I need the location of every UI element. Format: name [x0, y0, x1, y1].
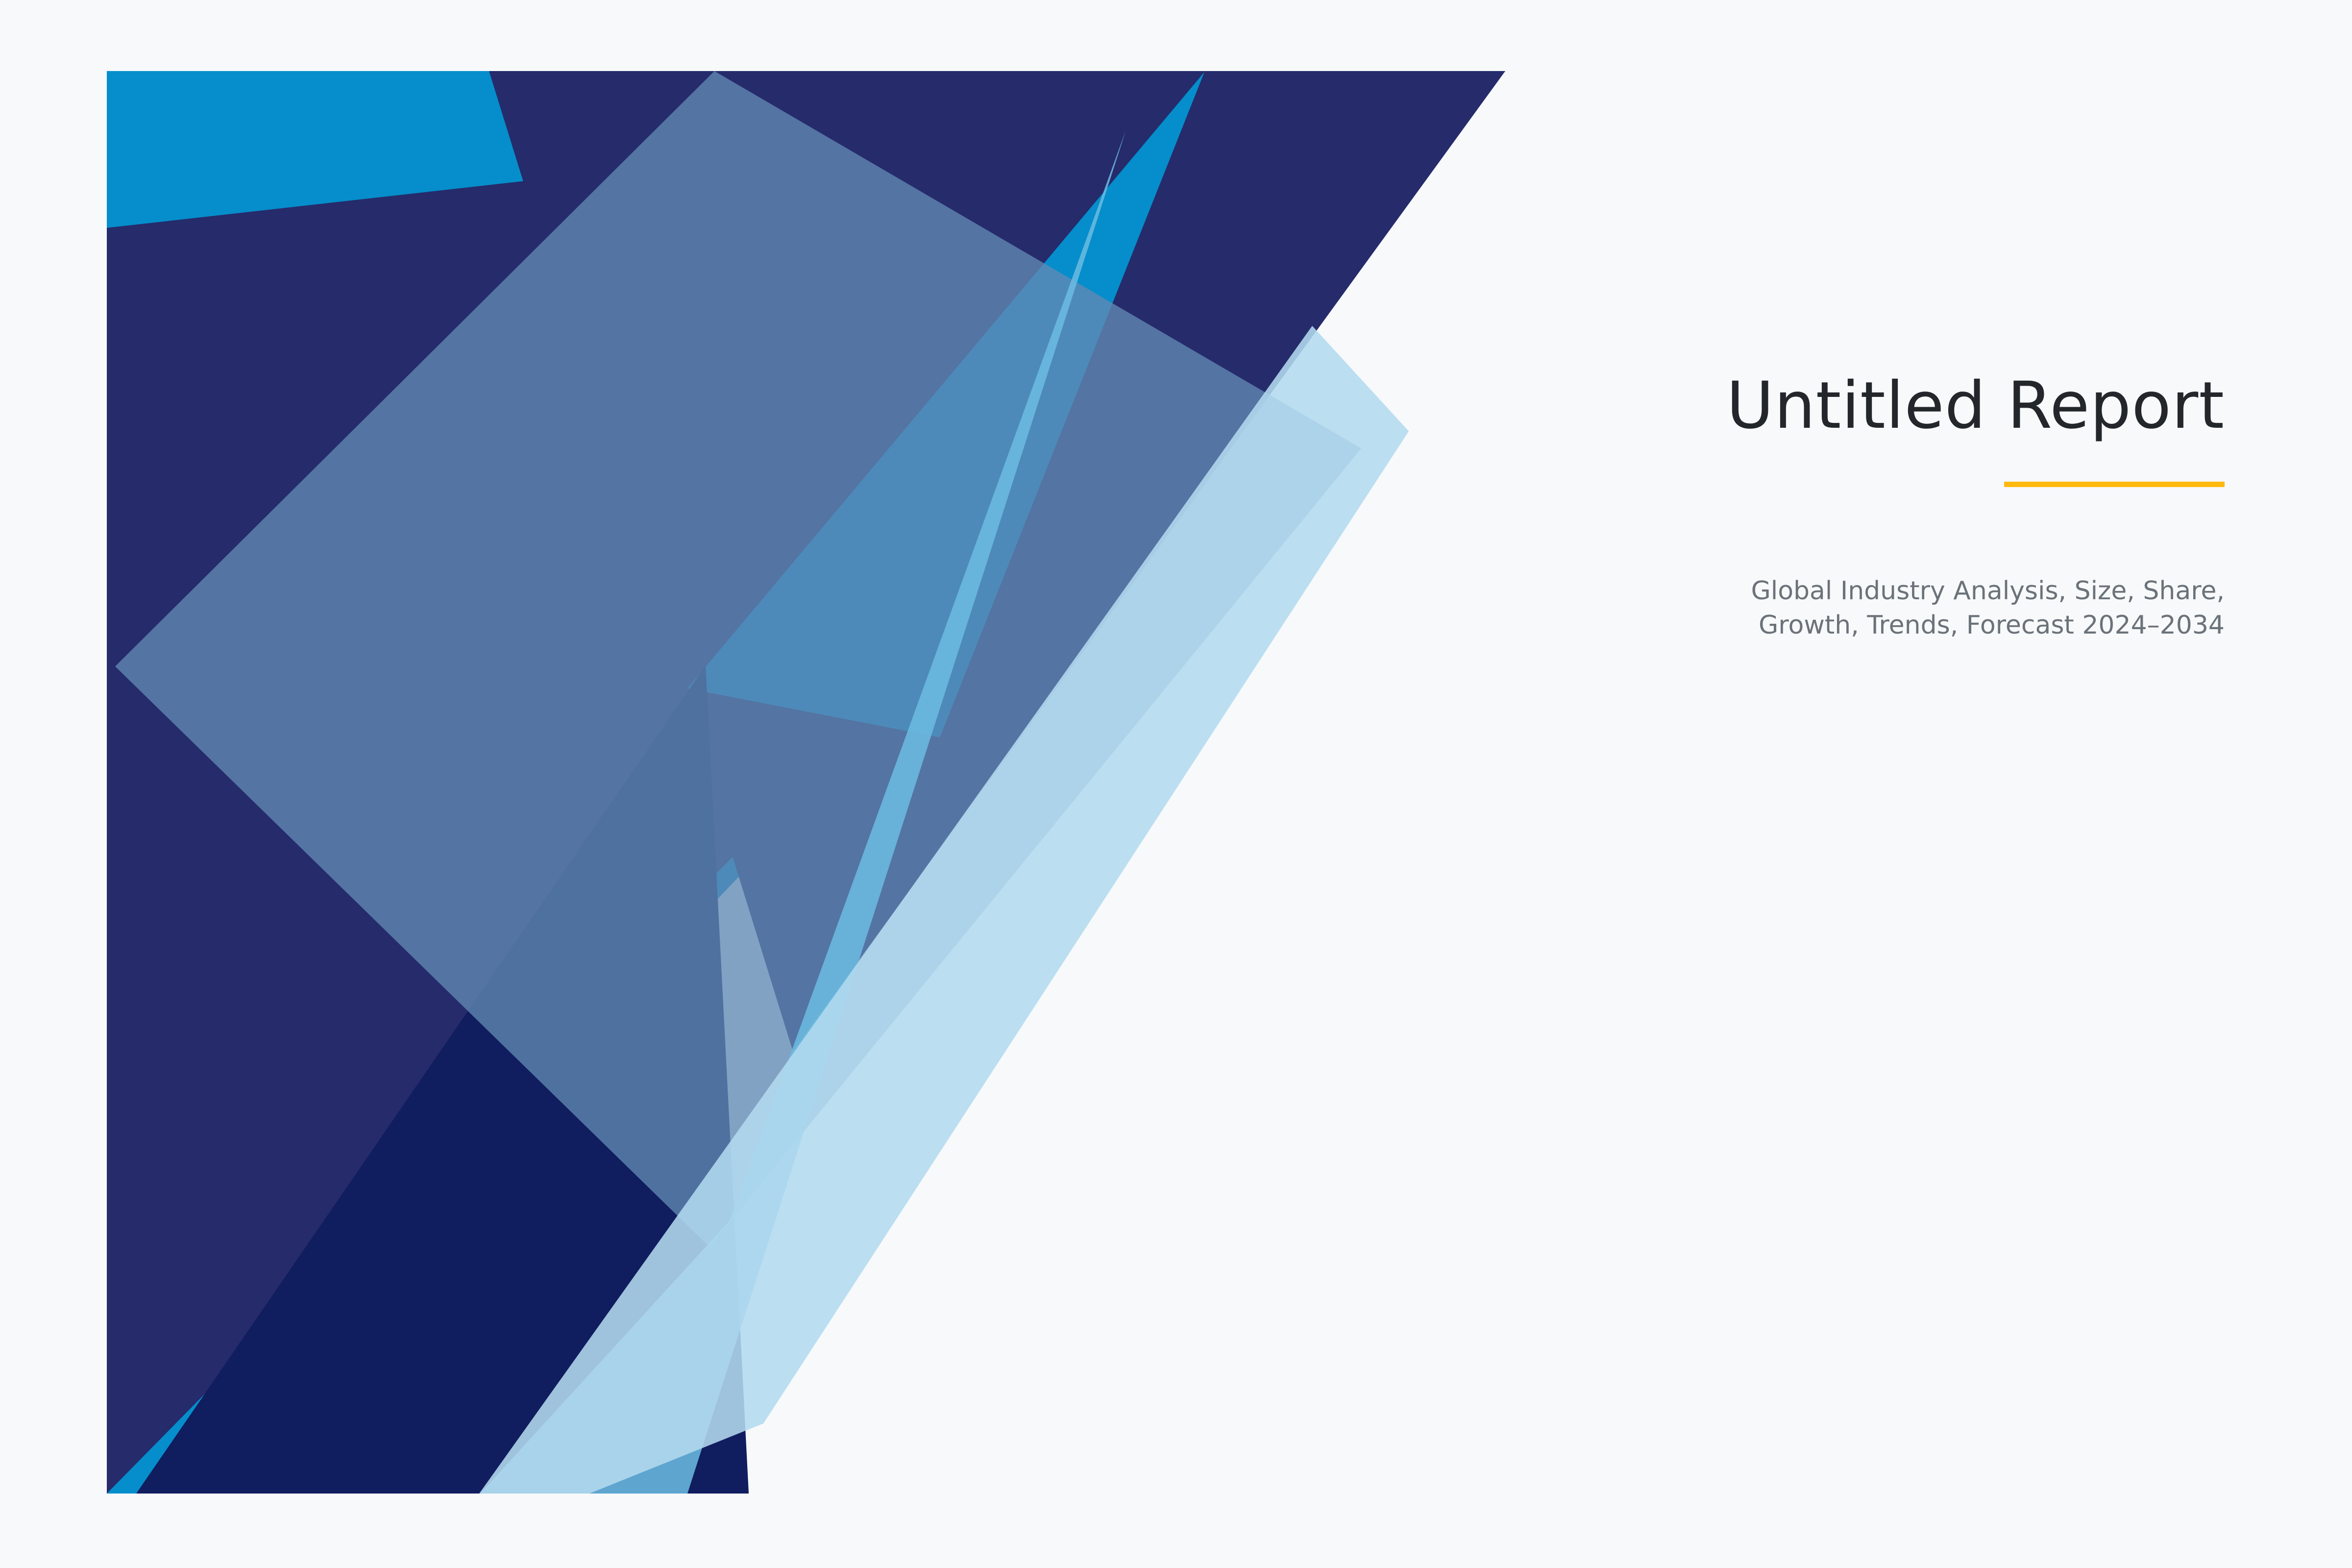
cover-graphic-svg	[107, 71, 1508, 1494]
cover-text-column: Untitled Report Global Industry Analysis…	[1588, 372, 2225, 643]
title-accent-rule-wrap	[1588, 482, 2225, 487]
abstract-geometric-cover-graphic	[107, 71, 1508, 1494]
title-accent-rule	[2004, 482, 2225, 487]
report-cover-page: Untitled Report Global Industry Analysis…	[0, 0, 2352, 1568]
page-subtitle-line-2: Growth, Trends, Forecast 2024–2034	[1588, 609, 2225, 643]
page-title: Untitled Report	[1588, 372, 2225, 440]
page-subtitle: Global Industry Analysis, Size, Share, G…	[1588, 574, 2225, 642]
page-subtitle-line-1: Global Industry Analysis, Size, Share,	[1588, 574, 2225, 609]
